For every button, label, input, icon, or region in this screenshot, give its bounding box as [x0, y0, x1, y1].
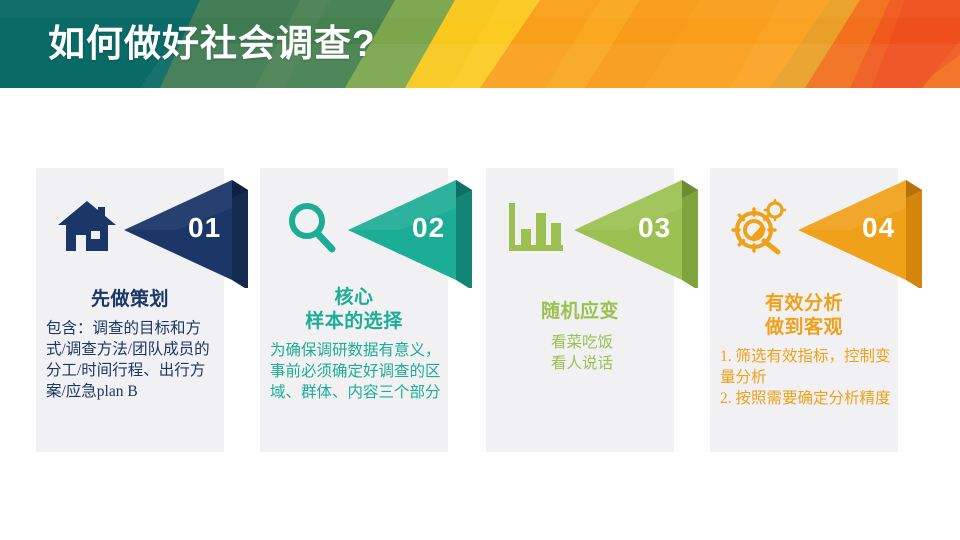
gear-magnifier-icon — [724, 194, 798, 260]
step-number-01: 01 — [188, 214, 221, 242]
magnifier-icon — [274, 194, 348, 260]
card-body-02: 为确保调研数据有意义，事前必须确定好调查的区域、群体、内容三个部分 — [270, 340, 442, 403]
bar-chart-icon — [500, 194, 574, 260]
step-number-02: 02 — [412, 214, 445, 242]
slide: 如何做好社会调查? 01 先做 — [0, 0, 960, 540]
steps-container: 01 先做策划 包含：调查的目标和方式/调查方法/团队成员的分工/时间行程、出行… — [0, 168, 960, 458]
step-number-04: 04 — [862, 214, 895, 242]
step-card-04[interactable]: 04 有效分析 做到客观 1. 筛选有效指标，控制变量分析 2. 按照需要确定分… — [710, 168, 898, 452]
step-card-03[interactable]: 03 随机应变 看菜吃饭 看人说话 — [486, 168, 674, 452]
card-body-01: 包含：调查的目标和方式/调查方法/团队成员的分工/时间行程、出行方案/应急pla… — [46, 318, 218, 402]
step-number-03: 03 — [638, 214, 671, 242]
step-card-01[interactable]: 01 先做策划 包含：调查的目标和方式/调查方法/团队成员的分工/时间行程、出行… — [36, 168, 224, 452]
card-title-02: 核心 样本的选择 — [268, 286, 440, 334]
card-title-01: 先做策划 — [44, 288, 216, 312]
house-icon — [50, 194, 124, 260]
header-banner: 如何做好社会调查? — [0, 0, 960, 88]
card-title-04: 有效分析 做到客观 — [718, 292, 890, 340]
card-title-03: 随机应变 — [494, 300, 666, 324]
page-title: 如何做好社会调查? — [48, 16, 376, 72]
card-body-04: 1. 筛选有效指标，控制变量分析 2. 按照需要确定分析精度 — [720, 346, 892, 409]
card-body-03: 看菜吃饭 看人说话 — [496, 332, 668, 374]
step-card-02[interactable]: 02 核心 样本的选择 为确保调研数据有意义，事前必须确定好调查的区域、群体、内… — [260, 168, 448, 452]
